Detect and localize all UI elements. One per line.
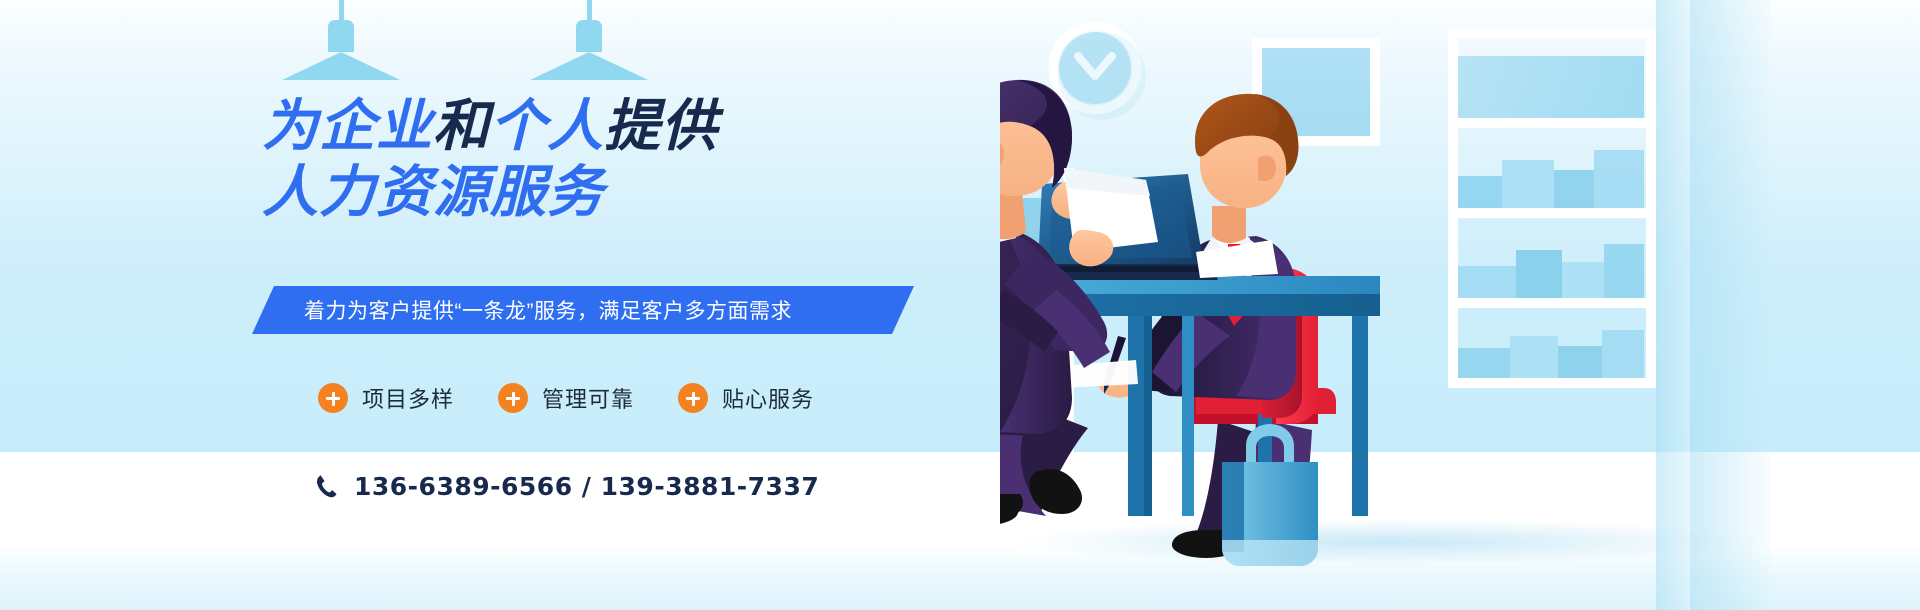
phone-icon [316, 475, 338, 499]
headline-seg-3: 个人 [490, 94, 604, 159]
phone-number: 136-6389-6566 / 139-3881-7337 [354, 472, 819, 501]
headline-seg-2: 和 [433, 94, 490, 159]
office-illustration [1000, 0, 1720, 610]
wall-clock-icon [1053, 26, 1146, 120]
lamp-neck [328, 20, 354, 52]
hero-banner: 为企业和个人提供 人力资源服务 着力为客户提供“一条龙”服务，满足客户多方面需求… [0, 0, 1920, 610]
feature-list: 项目多样 管理可靠 贴心服务 [318, 382, 814, 414]
bookshelf [1448, 28, 1656, 388]
contact-row[interactable]: 136-6389-6566 / 139-3881-7337 [316, 472, 819, 501]
lamp-shade [530, 52, 648, 80]
lamp-shade [282, 52, 400, 80]
headline-line-2: 人力资源服务 [262, 162, 718, 224]
lamp-cord [587, 0, 592, 22]
page-title: 为企业和个人提供 人力资源服务 [262, 96, 718, 224]
subtitle-ribbon: 着力为客户提供“一条龙”服务，满足客户多方面需求 [252, 286, 914, 334]
feature-label: 项目多样 [362, 382, 454, 414]
feature-item[interactable]: 管理可靠 [498, 382, 634, 414]
wall-pillar [1656, 0, 1690, 610]
feature-item[interactable]: 项目多样 [318, 382, 454, 414]
lamp-cord [339, 0, 344, 22]
ribbon-tail [916, 286, 932, 334]
feature-label: 管理可靠 [542, 382, 634, 414]
plus-icon [498, 383, 528, 413]
feature-label: 贴心服务 [722, 382, 814, 414]
subtitle-text: 着力为客户提供“一条龙”服务，满足客户多方面需求 [304, 295, 792, 325]
plus-icon [318, 383, 348, 413]
headline-seg-4: 提供 [604, 94, 718, 159]
plus-icon [678, 383, 708, 413]
headline-seg-1: 为企业 [262, 94, 433, 159]
pendant-lamp-icon [530, 0, 648, 80]
lamp-neck [576, 20, 602, 52]
feature-item[interactable]: 贴心服务 [678, 382, 814, 414]
pendant-lamp-icon [282, 0, 400, 80]
headline-line-1: 为企业和个人提供 [262, 96, 718, 158]
